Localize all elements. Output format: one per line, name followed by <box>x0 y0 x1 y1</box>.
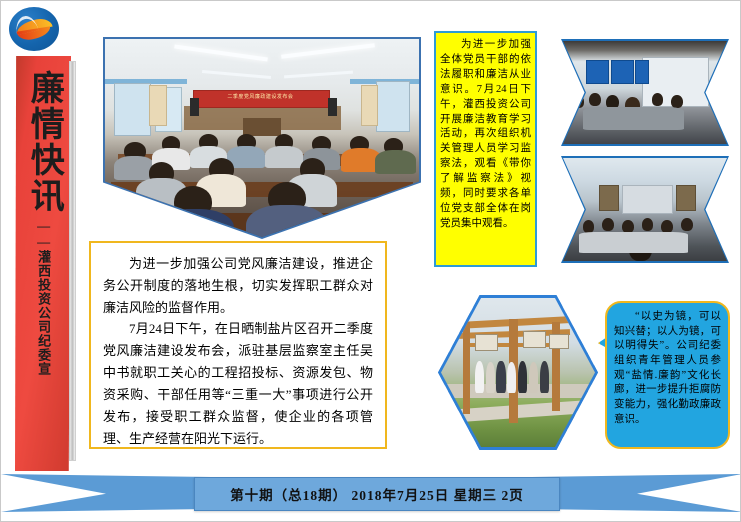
exhibit-board <box>549 334 569 349</box>
ceiling-light <box>202 70 271 79</box>
speaker <box>190 98 199 116</box>
wall-panel <box>599 185 619 212</box>
window <box>376 81 409 133</box>
attendee-head <box>642 218 653 231</box>
hexagon-photo-image <box>441 298 595 447</box>
wave-photo-bottom <box>561 156 729 263</box>
visitor <box>475 361 484 394</box>
display-panel <box>635 60 648 85</box>
exhibit-board <box>523 331 547 348</box>
stage-banner-caption: 二季度党风廉政建设发布会 <box>193 91 328 107</box>
newsletter-page: 廉情快讯 ——灌西投资公司纪委宣 二季度党风廉政建设发布会 <box>0 0 741 522</box>
pergola-post <box>463 322 471 414</box>
main-photo: 二季度党风廉政建设发布会 <box>103 37 421 239</box>
attendee-body <box>265 146 303 168</box>
yellow-callout-text: 为进一步加强全体党员干部的依法履职和廉洁从业意识。7月24日下午，灌西投资公司开… <box>440 38 531 232</box>
masthead-banner-edge <box>69 61 76 461</box>
masthead-banner <box>15 56 71 471</box>
visitor <box>518 361 527 394</box>
wall-panel <box>676 185 696 212</box>
display-panel <box>611 60 634 85</box>
projection-screen <box>622 185 673 214</box>
company-logo-icon <box>9 7 59 51</box>
attendee-row <box>583 107 685 130</box>
visitor <box>486 362 495 393</box>
attendee-body-front <box>152 209 234 237</box>
visitor <box>507 362 516 393</box>
attendee-row <box>579 232 687 253</box>
attendee-head <box>602 218 613 231</box>
ceiling-light <box>281 43 375 58</box>
main-article-box: 为进一步加强公司党风廉洁建设，推进企务公开制度的落地生根，切实发挥职工群众对廉洁… <box>89 241 387 449</box>
visitor <box>540 361 549 394</box>
exhibit-board <box>475 334 499 351</box>
attendee-head <box>573 95 584 108</box>
wall-scroll <box>149 85 167 127</box>
attendee-head <box>583 220 594 233</box>
wave-photo-bottom-image <box>563 158 727 261</box>
attendee-head <box>671 95 682 108</box>
display-panel <box>586 60 609 85</box>
footer-issue-info: 第十期（总18期） 2018年7月25日 星期三 2页 <box>194 477 560 511</box>
wall-scroll <box>361 85 379 127</box>
attendee-head <box>622 220 633 233</box>
attendee-head <box>681 218 692 231</box>
article-paragraph-1: 为进一步加强公司党风廉洁建设，推进企务公开制度的落地生根，切实发挥职工群众对廉洁… <box>103 253 373 318</box>
attendee-head <box>652 93 663 106</box>
hexagon-photo <box>438 295 598 450</box>
attendee-head <box>661 220 672 233</box>
quote-callout-box: “以史为镜，可以知兴替；以人为镜，可以明得失”。公司纪委组织青年管理人员参观“盐… <box>605 301 730 449</box>
wave-photo-top <box>561 39 729 146</box>
main-photo-image: 二季度党风廉政建设发布会 <box>105 39 419 237</box>
visitor <box>496 361 505 394</box>
speaker <box>328 98 337 116</box>
window <box>114 83 151 136</box>
stone-ledge <box>450 401 586 424</box>
wave-photo-top-image <box>563 41 727 144</box>
yellow-callout-box: 为进一步加强全体党员干部的依法履职和廉洁从业意识。7月24日下午，灌西投资公司开… <box>434 31 537 267</box>
ceiling-light <box>174 44 268 61</box>
attendee-body-front <box>246 205 328 237</box>
article-paragraph-2: 7月24日下午，在日晒制盐片区召开二季度党风廉洁建设发布会，派驻基层监察室主任吴… <box>103 318 373 449</box>
visitor <box>529 362 538 393</box>
attendee-head <box>589 93 600 106</box>
quote-callout-text: “以史为镜，可以知兴替；以人为镜，可以明得失”。公司纪委组织青年管理人员参观“盐… <box>614 310 721 428</box>
attendee-body <box>375 150 416 174</box>
ceiling-light <box>284 70 353 78</box>
